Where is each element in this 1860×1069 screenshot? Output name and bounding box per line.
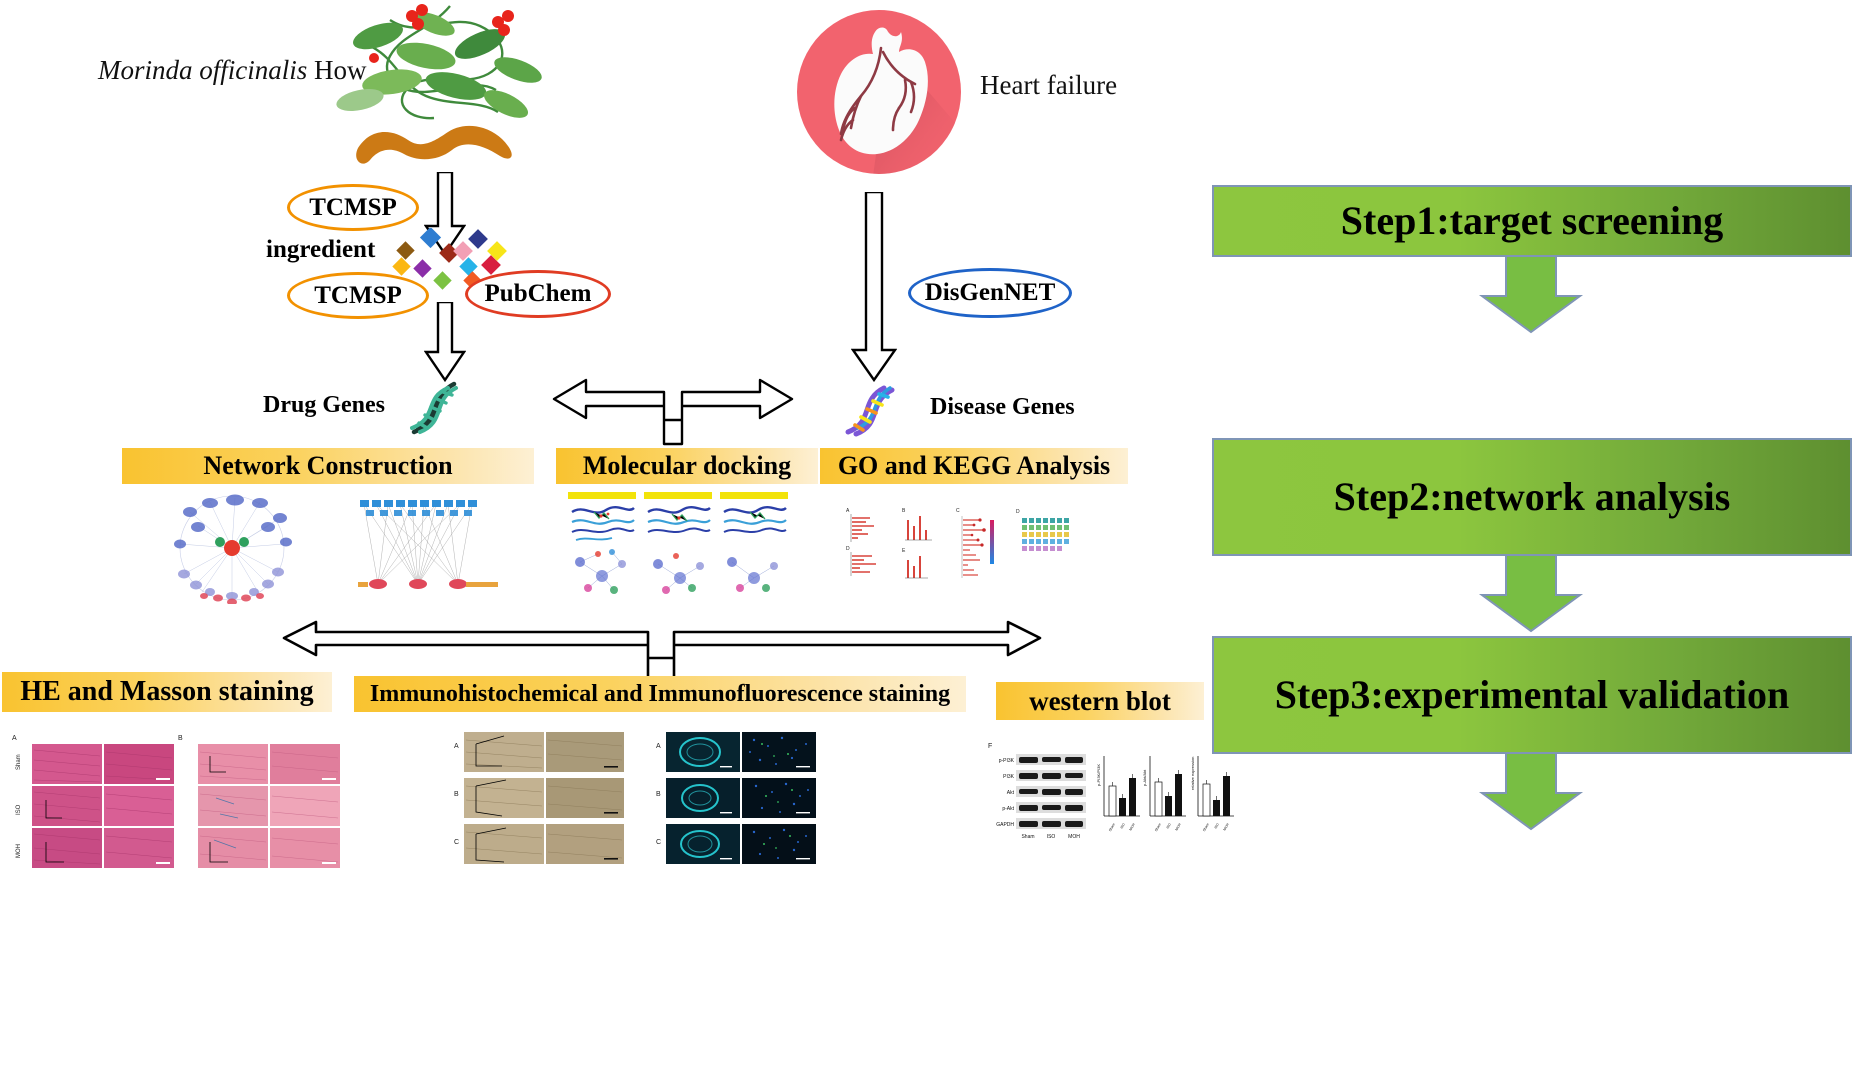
drug-genes-label: Drug Genes — [263, 392, 385, 419]
svg-text:Sham: Sham — [1021, 834, 1034, 840]
svg-text:ISO: ISO — [1119, 822, 1126, 829]
database-oval-pubchem[interactable]: PubChem — [465, 270, 611, 318]
svg-text:A: A — [454, 743, 459, 750]
he-masson-micrographs: A B Sham ISO MOH — [10, 730, 340, 870]
svg-text:C: C — [956, 508, 960, 514]
svg-text:p-PI3K/PI3K: p-PI3K/PI3K — [1096, 764, 1101, 786]
section-banner-network-construction: Network Construction — [122, 448, 534, 484]
network-construction-figures — [140, 492, 540, 604]
section-banner-molecular-docking: Molecular docking — [556, 448, 818, 484]
green-arrow-step3-out — [1476, 753, 1586, 831]
disease-genes-label: Disease Genes — [930, 394, 1075, 421]
svg-text:Sham: Sham — [16, 754, 22, 770]
section-banner-ihc-if: Immunohistochemical and Immunofluorescen… — [354, 676, 966, 712]
svg-text:A: A — [656, 743, 661, 750]
svg-text:GAPDH: GAPDH — [996, 822, 1014, 828]
svg-text:MOH: MOH — [1128, 822, 1136, 831]
svg-text:ISO: ISO — [1213, 822, 1220, 829]
svg-text:A: A — [846, 508, 850, 514]
step-label-2: Step2:network analysis — [1334, 475, 1731, 520]
svg-text:PI3K: PI3K — [1003, 774, 1015, 780]
molecular-docking-figures — [568, 492, 790, 616]
section-label-ihc-if: Immunohistochemical and Immunofluorescen… — [354, 681, 966, 708]
svg-text:MOH: MOH — [1222, 822, 1230, 831]
svg-text:B: B — [178, 735, 183, 742]
arrow-analysis-to-experiment — [282, 618, 1042, 682]
svg-text:B: B — [454, 791, 459, 798]
ingredient-label: ingredient — [266, 236, 375, 264]
section-label-network-construction: Network Construction — [122, 451, 534, 481]
svg-text:p-Akt/Akt: p-Akt/Akt — [1142, 769, 1147, 786]
database-label-tcmsp-top: TCMSP — [309, 194, 397, 222]
svg-text:MOH: MOH — [1068, 834, 1080, 840]
section-label-molecular-docking: Molecular docking — [556, 451, 818, 481]
dna-helix-purple-icon — [836, 372, 902, 438]
heart-failure-label: Heart failure — [980, 70, 1117, 101]
western-blot-figures: F p-PI3K PI3K Akt p-Akt GAPDH ShamISOMOH — [986, 740, 1246, 858]
svg-text:MOH: MOH — [16, 844, 22, 858]
svg-text:p-PI3K: p-PI3K — [999, 758, 1015, 764]
svg-text:ISO: ISO — [1165, 822, 1172, 829]
green-arrow-step2-to-step3 — [1476, 555, 1586, 633]
svg-text:Sham: Sham — [1154, 822, 1162, 832]
svg-text:B: B — [902, 508, 906, 514]
svg-text:ISO: ISO — [1047, 834, 1056, 840]
ihc-if-micrographs: ABC ABC — [452, 726, 872, 871]
morinda-plant-illustration — [330, 0, 550, 165]
database-label-disgenet: DisGenNET — [925, 279, 1056, 307]
section-label-western-blot: western blot — [996, 686, 1204, 717]
step-box-1: Step1:target screening — [1212, 185, 1852, 257]
step-label-3: Step3:experimental validation — [1275, 673, 1789, 718]
section-banner-he-masson: HE and Masson staining — [2, 672, 332, 712]
svg-text:Akt: Akt — [1007, 790, 1015, 796]
section-label-he-masson: HE and Masson staining — [2, 676, 332, 708]
herb-label: Morinda officinalis How — [98, 55, 367, 86]
step-box-2: Step2:network analysis — [1212, 438, 1852, 556]
section-label-go-kegg: GO and KEGG Analysis — [820, 451, 1128, 481]
arrow-heart-to-diseasegenes — [851, 192, 897, 382]
step-box-3: Step3:experimental validation — [1212, 636, 1852, 754]
svg-text:B: B — [656, 791, 661, 798]
svg-text:relative expression: relative expression — [1190, 757, 1195, 790]
green-arrow-step1-to-step2 — [1476, 256, 1586, 334]
database-label-tcmsp-bottom: TCMSP — [314, 282, 402, 310]
svg-text:D: D — [846, 546, 850, 552]
go-kegg-figures: A D B E C — [844, 506, 1144, 584]
svg-text:Sham: Sham — [1108, 822, 1116, 832]
svg-text:E: E — [902, 548, 906, 554]
svg-text:D: D — [1016, 509, 1020, 515]
database-oval-tcmsp-bottom[interactable]: TCMSP — [287, 272, 429, 319]
section-banner-go-kegg: GO and KEGG Analysis — [820, 448, 1128, 484]
svg-text:C: C — [656, 839, 661, 846]
svg-text:F: F — [988, 743, 992, 750]
heart-circle-icon — [795, 8, 963, 176]
herb-label-italic: Morinda officinalis — [98, 55, 307, 85]
section-banner-western-blot: western blot — [996, 682, 1204, 720]
svg-text:Sham: Sham — [1202, 822, 1210, 832]
database-oval-disgenet[interactable]: DisGenNET — [908, 268, 1072, 318]
database-oval-tcmsp-top[interactable]: TCMSP — [287, 184, 419, 231]
svg-text:C: C — [454, 839, 459, 846]
svg-text:A: A — [12, 735, 17, 742]
svg-text:ISO: ISO — [16, 804, 22, 815]
svg-text:MOH: MOH — [1174, 822, 1182, 831]
dna-helix-green-icon — [400, 370, 466, 436]
arrow-genes-bidirectional — [552, 378, 794, 448]
step-label-1: Step1:target screening — [1341, 199, 1724, 244]
database-label-pubchem: PubChem — [485, 280, 592, 308]
svg-text:p-Akt: p-Akt — [1002, 806, 1014, 812]
